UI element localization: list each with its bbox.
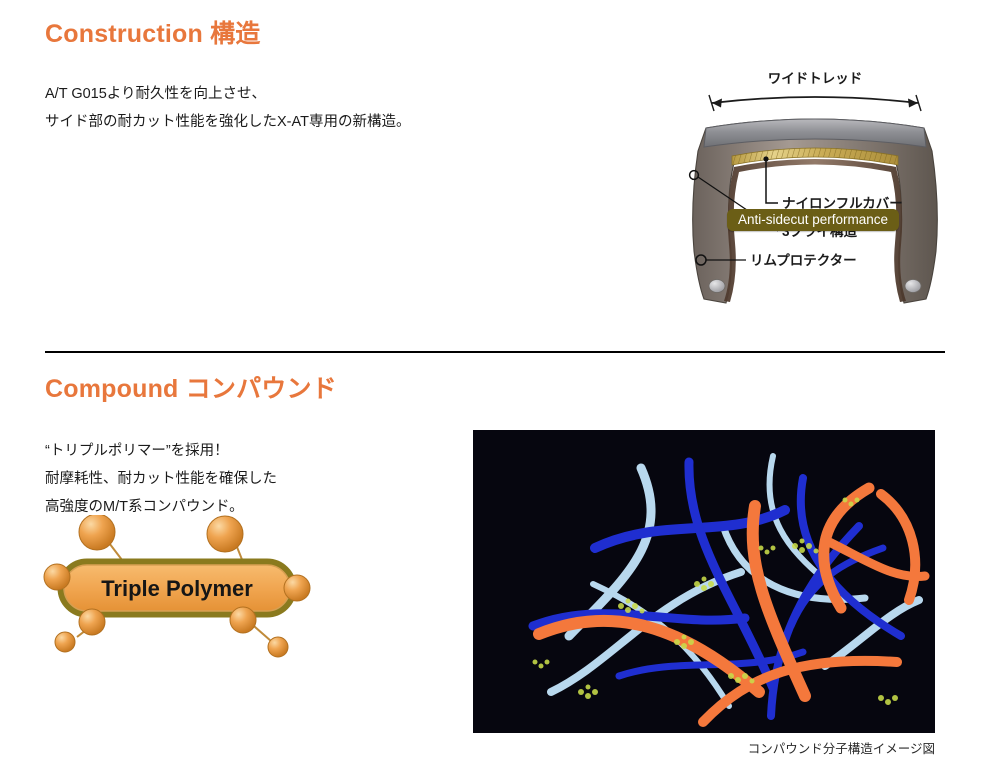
construction-title-jp: 構造 (210, 20, 260, 48)
construction-copy-line-2: サイド部の耐カット性能を強化したX-AT専用の新構造。 (45, 108, 410, 136)
compound-molecular-structure-image (473, 430, 935, 733)
compound-photo-caption: コンパウンド分子構造イメージ図 (0, 738, 935, 757)
bead-right (905, 280, 921, 293)
wide-tread-dimension-arrow (709, 95, 921, 111)
section-divider (45, 351, 945, 353)
construction-title-en: Construction (45, 20, 203, 48)
label-rim-protector: リムプロテクター (750, 253, 857, 268)
compound-copy-line-2: 耐摩耗性、耐カット性能を確保した (45, 465, 277, 493)
compound-title-jp: コンパウンド (186, 375, 337, 403)
compound-title-en: Compound (45, 375, 179, 403)
construction-section-title: Construction 構造 (45, 14, 261, 50)
compound-copy-line-1: “トリプルポリマー”を採用！ (45, 437, 277, 465)
anti-sidecut-performance-badge: Anti-sidecut performance (727, 209, 899, 231)
construction-copy-line-1: A/T G015より耐久性を向上させ、 (45, 80, 410, 108)
construction-description: A/T G015より耐久性を向上させ、 サイド部の耐カット性能を強化したX-AT… (45, 80, 410, 136)
compound-section-title: Compound コンパウンド (45, 369, 337, 405)
label-wide-tread: ワイドトレッド (768, 71, 863, 86)
page-root: Construction 構造 A/T G015より耐久性を向上させ、 サイド部… (0, 0, 983, 775)
compound-description: “トリプルポリマー”を採用！ 耐摩耗性、耐カット性能を確保した 高強度のM/T系… (45, 437, 277, 521)
triple-polymer-label: Triple Polymer (101, 576, 253, 601)
bead-left (709, 280, 725, 293)
tire-cross-section-diagram: ワイドトレッド ナイロンフルカバー (660, 55, 970, 305)
triple-polymer-molecule-graphic: Triple Polymer (35, 515, 325, 660)
